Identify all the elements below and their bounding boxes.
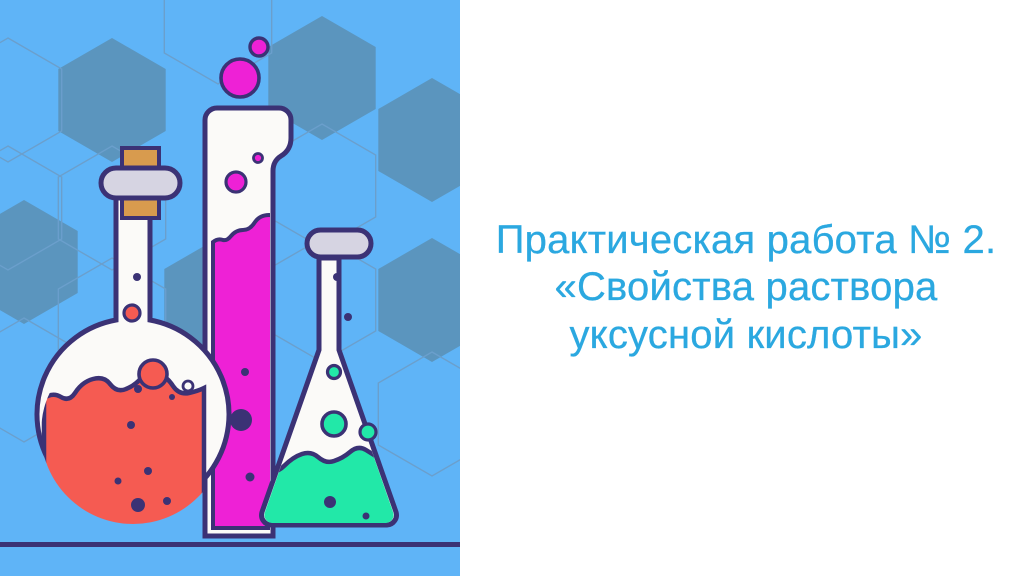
round-flask-speck-7 bbox=[131, 498, 145, 512]
lab-illustration-svg bbox=[0, 0, 460, 576]
round-flask-bubble-3 bbox=[183, 381, 193, 391]
round-flask-collar bbox=[101, 168, 180, 198]
erlenmeyer-speck-4 bbox=[363, 513, 370, 520]
slide-root: Практическая работа № 2. «Свойства раств… bbox=[0, 0, 1024, 576]
round-flask-bubble-2 bbox=[139, 360, 167, 388]
tube-speck-2 bbox=[230, 409, 252, 431]
erlenmeyer-bubble-3 bbox=[360, 424, 376, 440]
tube-speck-3 bbox=[246, 473, 255, 482]
round-flask-speck-8 bbox=[163, 497, 171, 505]
round-flask-speck-neck-3 bbox=[133, 273, 141, 281]
title-block: Практическая работа № 2. «Свойства раств… bbox=[468, 0, 1024, 576]
table-floor-line bbox=[0, 542, 460, 547]
page-title: Практическая работа № 2. «Свойства раств… bbox=[468, 217, 1024, 359]
round-flask-speck-neck-2 bbox=[127, 421, 135, 429]
tube-speck-1 bbox=[241, 368, 249, 376]
round-flask-speck-neck-1 bbox=[134, 385, 142, 393]
erlenmeyer-bubble-1 bbox=[328, 366, 341, 379]
bubble-magenta-small bbox=[250, 38, 268, 56]
erlenmeyer-speck-2 bbox=[344, 313, 352, 321]
tube-bubble-medium bbox=[226, 172, 246, 192]
tube-bubble-small bbox=[254, 154, 263, 163]
round-flask-speck-4 bbox=[169, 394, 175, 400]
bubble-magenta-large bbox=[221, 59, 259, 97]
round-flask-speck-5 bbox=[144, 467, 152, 475]
erlenmeyer-collar bbox=[307, 230, 371, 257]
round-flask-bubble-1 bbox=[124, 305, 140, 321]
erlenmeyer-speck-3 bbox=[324, 496, 336, 508]
round-flask-speck-6 bbox=[115, 478, 122, 485]
erlenmeyer-bubble-2 bbox=[322, 412, 346, 436]
erlenmeyer-speck-1 bbox=[333, 273, 341, 281]
illustration-panel bbox=[0, 0, 460, 576]
